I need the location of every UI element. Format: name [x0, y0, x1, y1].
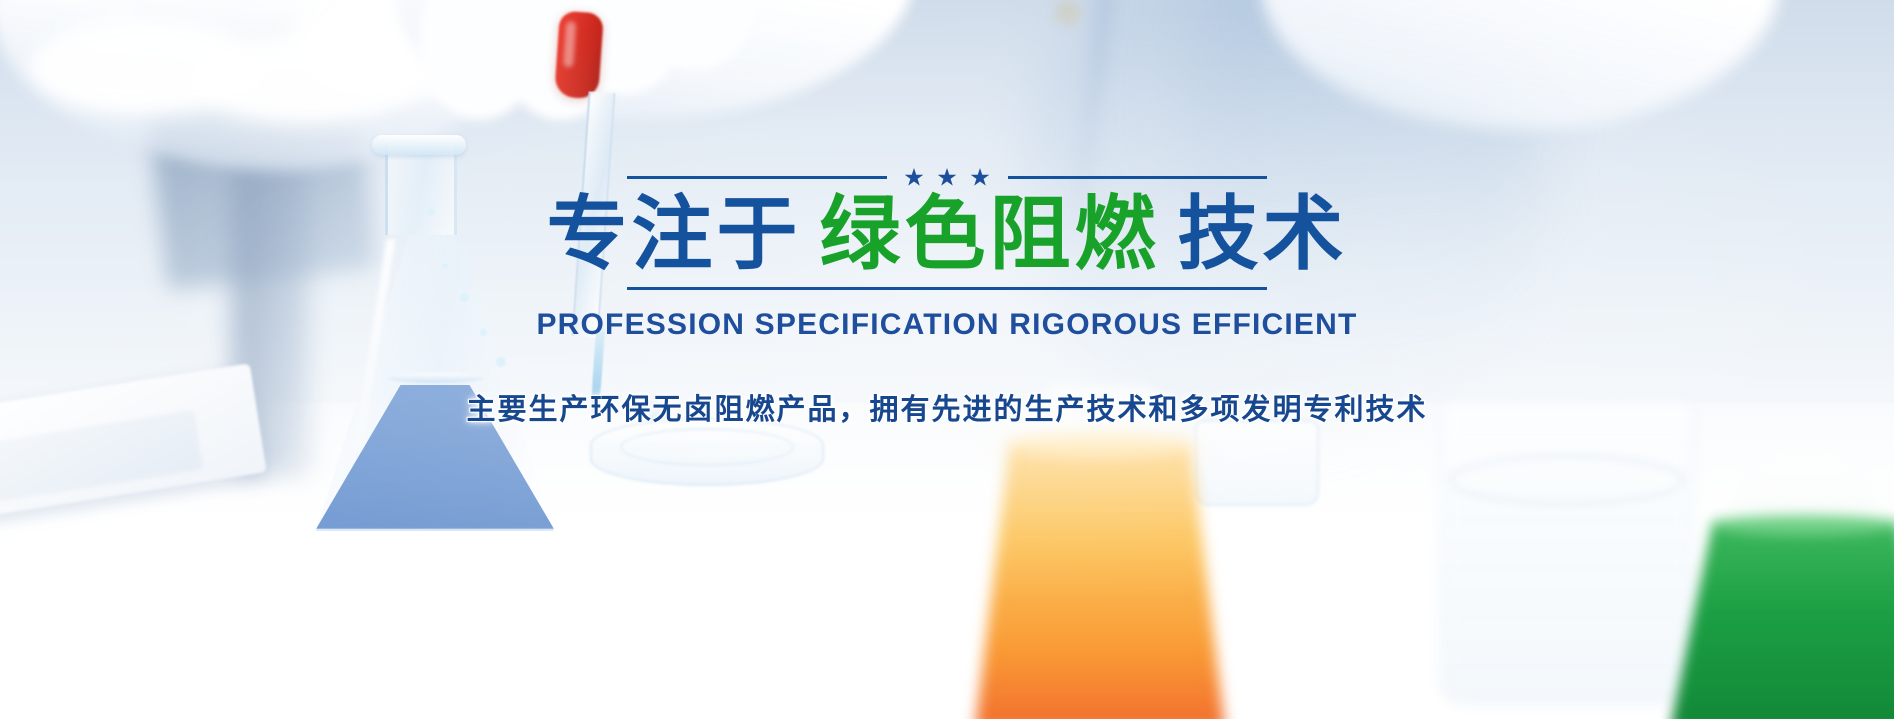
tagline-chinese: 主要生产环保无卤阻燃产品，拥有先进的生产技术和多项发明专利技术	[0, 386, 1894, 428]
petri-dish-rim	[620, 428, 794, 466]
large-beaker-rim	[1450, 455, 1684, 505]
star-icon	[938, 168, 957, 187]
hero-banner: 专注于绿色阻燃技术 PROFESSION SPECIFICATION RIGOR…	[0, 0, 1894, 719]
flask-green-surface	[1710, 514, 1894, 536]
flask-orange	[975, 440, 1225, 719]
flask-liquid-green	[1670, 520, 1894, 719]
large-beaker-blur	[1440, 400, 1694, 704]
headline-part-2: 绿色阻燃	[819, 190, 1159, 280]
rule-segment-left	[627, 176, 887, 179]
decorative-rule-top	[627, 168, 1267, 187]
star-icon	[971, 168, 990, 187]
page-title: 专注于绿色阻燃技术	[0, 193, 1894, 277]
flask-liquid-orange	[975, 440, 1225, 719]
rule-segment-right	[1008, 176, 1268, 179]
flask-orange-surface	[1005, 432, 1195, 458]
decorative-rule-bottom	[627, 287, 1267, 290]
lab-coat-button	[1055, 0, 1081, 26]
pipette-bulb-icon	[554, 11, 604, 100]
headline-part-3: 技术	[1178, 190, 1348, 280]
subtitle-english: PROFESSION SPECIFICATION RIGOROUS EFFICI…	[0, 308, 1894, 342]
headline-part-1: 专注于	[546, 190, 801, 280]
star-group	[905, 168, 990, 187]
flask-green	[1670, 520, 1894, 719]
star-icon	[905, 168, 924, 187]
flask-lip	[372, 135, 466, 155]
banner-content: 专注于绿色阻燃技术 PROFESSION SPECIFICATION RIGOR…	[0, 168, 1894, 428]
